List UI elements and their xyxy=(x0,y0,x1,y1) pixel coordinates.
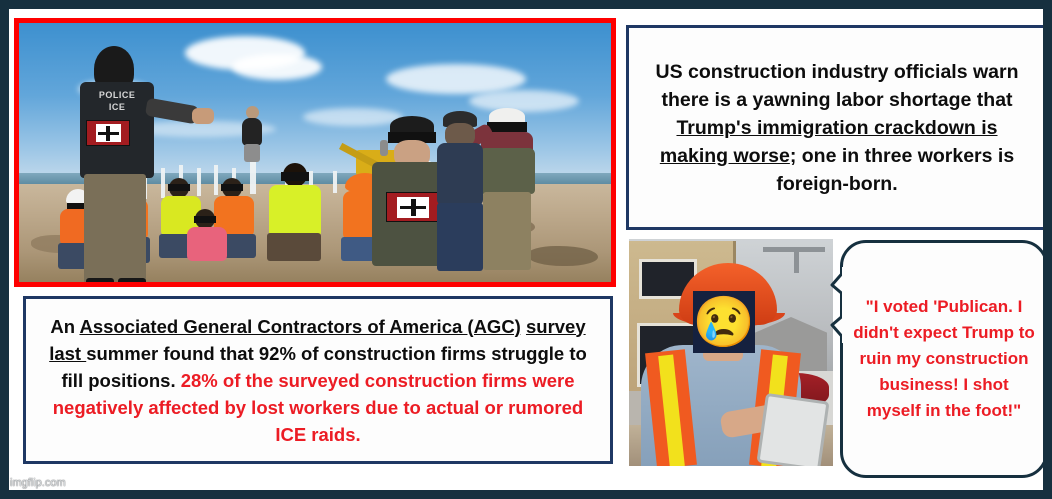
agent-pants xyxy=(84,174,146,282)
torso xyxy=(242,118,262,146)
survey-lead: An xyxy=(50,316,79,337)
survey-text: An Associated General Contractors of Ame… xyxy=(38,313,598,448)
swastika-patch-icon xyxy=(86,120,130,146)
swastika-patch-icon xyxy=(386,192,440,222)
head xyxy=(246,106,259,119)
legs xyxy=(244,144,260,162)
crane-mast xyxy=(794,247,799,273)
redaction-bar xyxy=(281,172,309,181)
redaction-bar xyxy=(194,216,216,223)
fence-post xyxy=(197,168,201,196)
redaction-bar xyxy=(168,184,190,191)
statement-line-1: US construction industry officials warn xyxy=(656,61,1019,83)
ice-label: ICE xyxy=(80,102,154,112)
tactical-vest xyxy=(479,148,535,194)
fence-post xyxy=(333,171,337,193)
torso xyxy=(187,227,227,261)
speech-bubble-tail xyxy=(826,267,846,343)
hand xyxy=(192,108,214,124)
survey-textbox: An Associated General Contractors of Ame… xyxy=(23,296,613,464)
statement-text: US construction industry officials warn … xyxy=(643,58,1031,198)
speech-bubble: "I voted 'Publican. I didn't expect Trum… xyxy=(840,240,1048,478)
statement-line-2: there is a yawning labor shortage that xyxy=(661,89,1012,111)
statement-textbox: US construction industry officials warn … xyxy=(626,25,1048,230)
imgflip-watermark: imgflip.com xyxy=(10,477,66,489)
boot xyxy=(118,278,146,282)
statement-underline-b: making worse xyxy=(660,145,790,167)
meme-canvas: POLICE ICE xyxy=(0,0,1052,499)
legs xyxy=(267,233,321,261)
torso xyxy=(437,143,483,205)
tablet-device xyxy=(756,393,829,466)
torso xyxy=(269,185,321,237)
police-label: POLICE xyxy=(80,90,154,100)
statement-underline-a: Trump's immigration crackdown is xyxy=(676,117,997,139)
rubble xyxy=(528,246,598,266)
ice-raid-photo-scene: POLICE ICE xyxy=(19,23,611,282)
construction-worker-photo: 😢 xyxy=(629,239,833,466)
speech-bubble-text: "I voted 'Publican. I didn't expect Trum… xyxy=(853,294,1035,424)
ice-raid-photo: POLICE ICE xyxy=(14,18,616,287)
boot xyxy=(86,278,114,282)
agent-pants xyxy=(483,192,531,270)
crying-face-emoji-icon: 😢 xyxy=(693,291,755,353)
statement-tail: ; one in three workers is xyxy=(790,145,1014,167)
tactical-vest: POLICE ICE xyxy=(80,82,154,178)
excavator-mast xyxy=(380,140,388,156)
fence-post xyxy=(214,165,218,195)
redaction-bar xyxy=(487,122,527,132)
survey-underline-a: Associated General Contractors of Americ… xyxy=(79,316,520,337)
redaction-bar xyxy=(221,184,243,191)
fence-post xyxy=(161,168,165,198)
statement-line-5: foreign-born. xyxy=(776,173,897,195)
cloud xyxy=(232,54,322,80)
legs xyxy=(437,203,483,271)
